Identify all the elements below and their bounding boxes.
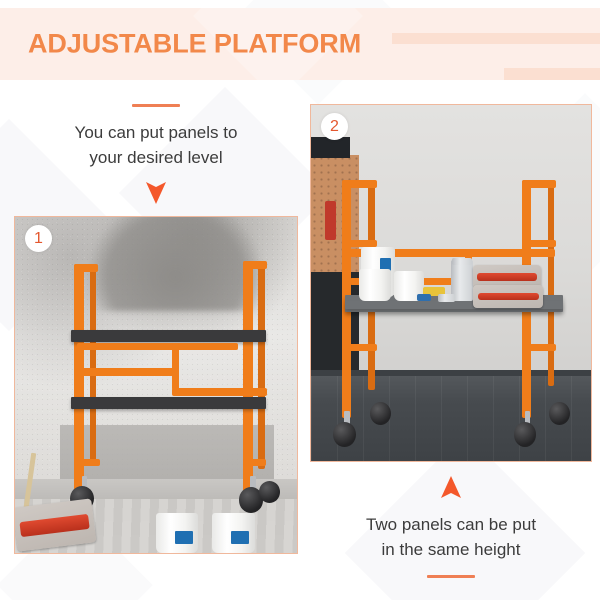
scaffold-rail [243, 261, 266, 269]
scaffold-cross-rail [77, 368, 179, 375]
bag-label [19, 513, 90, 536]
infographic-page: ADJUSTABLE PLATFORM You can put panels t… [0, 0, 600, 600]
header-accent-bar [504, 68, 600, 80]
small-roller [438, 294, 455, 302]
step-badge-2: 2 [321, 113, 348, 140]
scaffold-rail [243, 459, 266, 466]
left-column: You can put panels to your desired level [14, 104, 298, 554]
left-caption-text: You can put panels to your desired level [14, 120, 298, 170]
platform-panel-lower [71, 397, 266, 409]
paint-bucket [212, 513, 254, 553]
right-divider [427, 575, 475, 578]
scaffold-brace [172, 343, 179, 390]
bucket-label [175, 531, 193, 544]
scaffold-rail [74, 264, 98, 272]
scaffold-rail [522, 180, 556, 188]
caster-wheel [514, 422, 536, 447]
left-divider [132, 104, 180, 107]
cabinet [311, 272, 359, 379]
photo-panel-1: 1 [14, 216, 298, 554]
scaffold-rail [77, 459, 100, 466]
right-caption-block: Two panels can be put in the same height [310, 476, 592, 578]
right-caption-text: Two panels can be put in the same height [310, 512, 592, 562]
scaffold-post [74, 264, 83, 506]
left-caption-block: You can put panels to your desired level [14, 104, 298, 204]
scaffold-cross-rail [77, 343, 238, 350]
bucket-label [231, 531, 249, 544]
step-badge-1: 1 [25, 225, 52, 252]
material-bag [473, 285, 543, 308]
scaffold-guard-rail [465, 249, 555, 256]
right-column: 2 Two panels can be put in the same heig… [310, 104, 592, 578]
caster-wheel [333, 422, 355, 447]
arrow-down-icon [145, 180, 167, 204]
header-banner: ADJUSTABLE PLATFORM [0, 8, 600, 80]
material-bag [14, 498, 96, 551]
can-lid [452, 258, 472, 265]
bag-label [477, 273, 536, 281]
scaffold-rail [522, 240, 556, 247]
scaffold-rail [342, 180, 377, 188]
scaffold-rail [342, 240, 377, 247]
arrow-up-icon [440, 476, 462, 500]
wall-shadow [88, 216, 263, 311]
scaffold-post [548, 183, 555, 386]
scene-2 [311, 105, 591, 461]
scaffold-rail [342, 344, 377, 351]
blue-tool [417, 294, 431, 301]
scaffold-post [90, 264, 96, 466]
scaffold-rail [522, 344, 556, 351]
page-title: ADJUSTABLE PLATFORM [28, 29, 361, 60]
paint-bucket [359, 269, 391, 301]
scaffold-post [243, 261, 252, 510]
scaffold-post [258, 261, 264, 469]
cabinet-top [311, 137, 350, 158]
scaffold-cross-rail [172, 388, 268, 395]
hanging-tool [325, 201, 336, 240]
scene-1 [15, 217, 297, 553]
photo-panel-2: 2 [310, 104, 592, 462]
paint-bucket [156, 513, 198, 553]
caster-wheel [370, 402, 391, 425]
bag-label [478, 293, 540, 301]
platform-panel-upper [71, 330, 266, 342]
header-accent-bar [392, 33, 600, 44]
caster-wheel [259, 481, 280, 503]
